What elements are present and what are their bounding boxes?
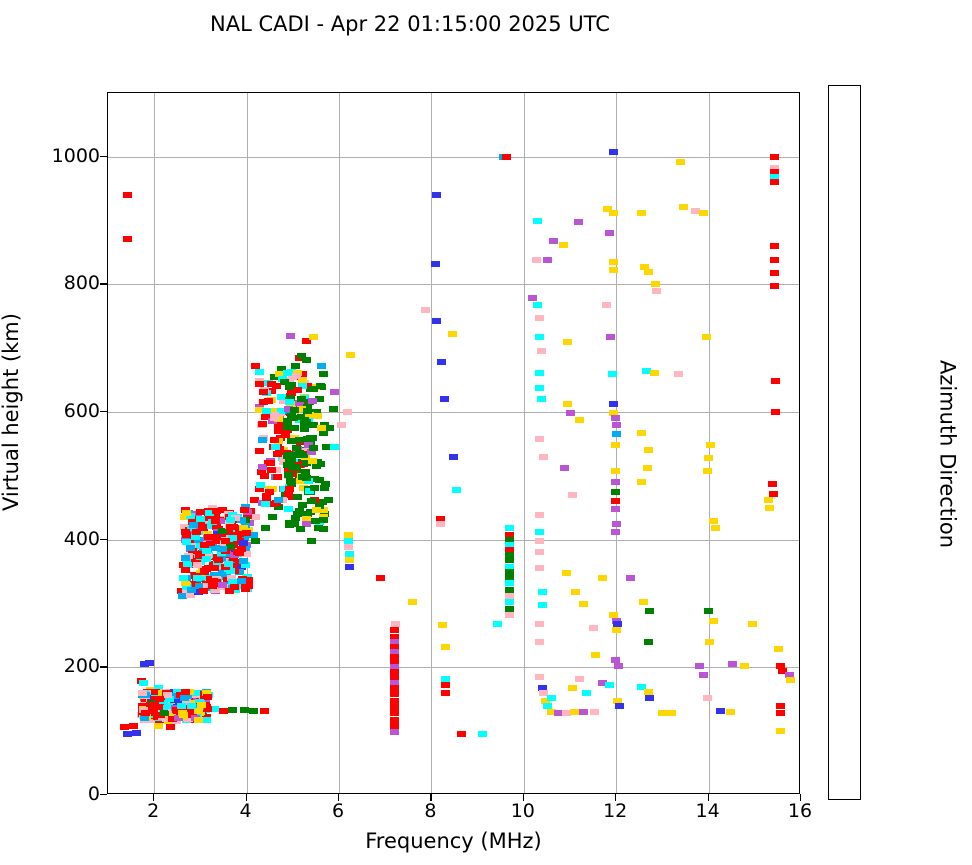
- data-point: [505, 557, 514, 563]
- data-point: [559, 242, 568, 248]
- data-point: [285, 383, 294, 389]
- data-point: [267, 467, 276, 473]
- data-point: [226, 524, 235, 530]
- data-point: [163, 692, 172, 698]
- data-point: [270, 437, 279, 443]
- data-point: [309, 445, 318, 451]
- data-point: [228, 707, 237, 713]
- data-point: [598, 575, 607, 581]
- data-point: [239, 558, 248, 564]
- data-point: [196, 509, 205, 515]
- data-point: [311, 518, 320, 524]
- data-point: [138, 690, 147, 696]
- data-point: [770, 243, 779, 249]
- data-point: [533, 302, 542, 308]
- data-point: [771, 409, 780, 415]
- data-point: [776, 710, 785, 716]
- data-point: [535, 315, 544, 321]
- y-tick-label: 200: [38, 655, 100, 677]
- data-point: [182, 539, 191, 545]
- data-point: [563, 401, 572, 407]
- data-point: [268, 514, 277, 520]
- data-point: [609, 259, 618, 265]
- data-point: [310, 485, 319, 491]
- data-point: [535, 512, 544, 518]
- x-tick-label: 10: [493, 800, 553, 822]
- data-point: [150, 702, 159, 708]
- gridline-horizontal: [108, 412, 799, 413]
- data-point: [543, 703, 552, 709]
- data-point: [448, 331, 457, 337]
- data-point: [166, 724, 175, 730]
- data-point: [308, 458, 317, 464]
- data-point: [770, 179, 779, 185]
- data-point: [652, 288, 661, 294]
- data-point: [535, 674, 544, 680]
- gridline-vertical: [339, 93, 340, 793]
- data-point: [284, 506, 293, 512]
- data-point: [637, 210, 646, 216]
- data-point: [240, 507, 249, 513]
- data-point: [478, 731, 487, 737]
- data-point: [528, 295, 537, 301]
- y-tick-label: 600: [38, 400, 100, 422]
- data-point: [535, 334, 544, 340]
- data-point: [312, 507, 321, 513]
- data-point: [132, 730, 141, 736]
- data-point: [390, 691, 399, 697]
- data-point: [602, 302, 611, 308]
- data-point: [182, 510, 191, 516]
- x-tickmark: [430, 794, 431, 801]
- data-point: [306, 422, 315, 428]
- data-point: [609, 149, 618, 155]
- data-point: [535, 565, 544, 571]
- data-point: [764, 497, 773, 503]
- data-point: [637, 479, 646, 485]
- data-point: [611, 479, 620, 485]
- y-tick-label: 1000: [38, 145, 100, 167]
- data-point: [199, 588, 208, 594]
- data-point: [575, 676, 584, 682]
- data-point: [257, 469, 266, 475]
- data-point: [221, 538, 230, 544]
- data-point: [273, 451, 282, 457]
- data-point: [202, 556, 211, 562]
- data-point: [535, 549, 544, 555]
- data-point: [566, 410, 575, 416]
- data-point: [344, 544, 353, 550]
- data-point: [776, 703, 785, 709]
- data-point: [218, 546, 227, 552]
- data-point: [705, 639, 714, 645]
- y-tickmark: [100, 156, 107, 157]
- data-point: [603, 206, 612, 212]
- x-tick-label: 14: [678, 800, 738, 822]
- gridline-horizontal: [108, 157, 799, 158]
- data-point: [345, 557, 354, 563]
- data-point: [211, 518, 220, 524]
- data-point: [438, 622, 447, 628]
- data-point: [645, 695, 654, 701]
- y-tickmark: [100, 411, 107, 412]
- data-point: [308, 435, 317, 441]
- data-point: [535, 538, 544, 544]
- data-point: [321, 481, 330, 487]
- data-point: [432, 192, 441, 198]
- data-point: [266, 460, 275, 466]
- data-point: [770, 257, 779, 263]
- colorbar-title: Azimuth Direction: [936, 97, 960, 812]
- data-point: [181, 555, 190, 561]
- data-point: [160, 710, 169, 716]
- data-point: [436, 521, 445, 527]
- data-point: [709, 618, 718, 624]
- gridline-vertical: [247, 93, 248, 793]
- x-tick-label: 4: [216, 800, 276, 822]
- data-point: [505, 606, 514, 612]
- data-point: [202, 548, 211, 554]
- y-axis-title: Virtual height (km): [0, 61, 23, 763]
- data-point: [612, 422, 621, 428]
- data-point: [303, 408, 312, 414]
- data-point: [145, 660, 154, 666]
- data-point: [237, 578, 246, 584]
- data-point: [293, 387, 302, 393]
- data-point: [317, 425, 326, 431]
- data-point: [505, 580, 514, 586]
- data-point: [706, 442, 715, 448]
- y-tickmark: [100, 539, 107, 540]
- data-point: [261, 525, 270, 531]
- data-point: [535, 385, 544, 391]
- data-point: [726, 709, 735, 715]
- data-point: [251, 538, 260, 544]
- data-point: [651, 281, 660, 287]
- data-point: [538, 589, 547, 595]
- data-point: [770, 154, 779, 160]
- data-point: [180, 695, 189, 701]
- data-point: [568, 492, 577, 498]
- data-point: [120, 724, 129, 730]
- data-point: [704, 608, 713, 614]
- data-point: [614, 663, 623, 669]
- data-point: [302, 475, 311, 481]
- data-point: [611, 468, 620, 474]
- x-axis-title: Frequency (MHz): [107, 829, 800, 853]
- y-tickmark: [100, 794, 107, 795]
- x-tick-label: 8: [400, 800, 460, 822]
- data-point: [287, 438, 296, 444]
- data-point: [441, 682, 450, 688]
- data-point: [212, 508, 221, 514]
- data-point: [703, 695, 712, 701]
- data-point: [337, 422, 346, 428]
- data-point: [699, 672, 708, 678]
- data-point: [345, 551, 354, 557]
- data-point: [609, 612, 618, 618]
- data-point: [605, 230, 614, 236]
- y-tick-label: 400: [38, 528, 100, 550]
- data-point: [505, 599, 514, 605]
- data-point: [194, 708, 203, 714]
- plot-area[interactable]: [107, 92, 800, 794]
- data-point: [343, 409, 352, 415]
- data-point: [192, 529, 201, 535]
- data-point: [292, 373, 301, 379]
- x-tickmark: [153, 794, 154, 801]
- data-point: [643, 465, 652, 471]
- data-point: [255, 369, 264, 375]
- data-point: [605, 682, 614, 688]
- data-point: [562, 570, 571, 576]
- data-point: [771, 378, 780, 384]
- data-point: [193, 575, 202, 581]
- data-point: [187, 587, 196, 593]
- x-tickmark: [246, 794, 247, 801]
- data-point: [261, 501, 270, 507]
- data-point: [441, 676, 450, 682]
- data-point: [344, 532, 353, 538]
- data-point: [543, 257, 552, 263]
- data-point: [129, 723, 138, 729]
- data-point: [200, 569, 209, 575]
- data-point: [571, 589, 580, 595]
- data-point: [329, 406, 338, 412]
- data-point: [284, 452, 293, 458]
- data-point: [549, 238, 558, 244]
- data-point: [644, 447, 653, 453]
- data-point: [240, 707, 249, 713]
- data-point: [441, 644, 450, 650]
- data-point: [644, 689, 653, 695]
- colorbar[interactable]: [828, 85, 861, 800]
- data-point: [292, 445, 301, 451]
- data-point: [196, 516, 205, 522]
- y-axis-tick-labels: 02004006008001000: [25, 92, 100, 794]
- data-point: [716, 708, 725, 714]
- data-point: [493, 621, 502, 627]
- data-point: [547, 695, 556, 701]
- data-point: [123, 731, 132, 737]
- data-point: [667, 710, 676, 716]
- data-point: [611, 529, 620, 535]
- data-point: [140, 715, 149, 721]
- data-point: [293, 494, 302, 500]
- data-point: [292, 464, 301, 470]
- data-point: [309, 334, 318, 340]
- data-point: [563, 339, 572, 345]
- data-point: [210, 565, 219, 571]
- data-point: [177, 703, 186, 709]
- data-point: [390, 685, 399, 691]
- data-point: [441, 690, 450, 696]
- data-point: [301, 469, 310, 475]
- data-point: [259, 389, 268, 395]
- data-point: [179, 712, 188, 718]
- data-point: [582, 690, 591, 696]
- data-point: [219, 708, 228, 714]
- data-point: [255, 381, 264, 387]
- data-point: [535, 621, 544, 627]
- data-point: [579, 709, 588, 715]
- data-point: [452, 487, 461, 493]
- x-tick-label: 12: [585, 800, 645, 822]
- data-point: [255, 448, 264, 454]
- x-tickmark: [523, 794, 524, 801]
- y-tick-label: 0: [38, 783, 100, 805]
- data-point: [611, 506, 620, 512]
- data-point: [533, 218, 542, 224]
- data-point: [191, 534, 200, 540]
- data-point: [283, 418, 292, 424]
- data-point: [186, 545, 195, 551]
- x-tickmark: [338, 794, 339, 801]
- data-point: [390, 729, 399, 735]
- data-point: [575, 417, 584, 423]
- data-point: [591, 652, 600, 658]
- data-point: [538, 602, 547, 608]
- data-point: [776, 728, 785, 734]
- data-point: [606, 334, 615, 340]
- data-point: [346, 352, 355, 358]
- data-point: [505, 593, 514, 599]
- data-point: [537, 396, 546, 402]
- data-point: [774, 646, 783, 652]
- data-point: [568, 685, 577, 691]
- data-point: [432, 318, 441, 324]
- data-point: [123, 236, 132, 242]
- data-point: [273, 474, 282, 480]
- data-point: [626, 575, 635, 581]
- data-point: [535, 436, 544, 442]
- data-point: [644, 269, 653, 275]
- data-point: [242, 530, 251, 536]
- x-tickmark: [708, 794, 709, 801]
- data-point: [613, 621, 622, 627]
- data-point: [579, 601, 588, 607]
- data-point: [258, 421, 267, 427]
- data-point: [307, 538, 316, 544]
- data-point: [204, 534, 213, 540]
- data-point: [695, 663, 704, 669]
- data-point: [267, 381, 276, 387]
- data-point: [181, 580, 190, 586]
- data-point: [786, 677, 795, 683]
- data-point: [330, 444, 339, 450]
- data-point: [615, 703, 624, 709]
- data-point: [300, 417, 309, 423]
- data-point: [535, 639, 544, 645]
- data-point: [179, 575, 188, 581]
- data-point: [709, 518, 718, 524]
- data-point: [141, 710, 150, 716]
- data-point: [609, 401, 618, 407]
- data-point: [505, 612, 514, 618]
- data-point: [139, 680, 148, 686]
- data-point: [703, 468, 712, 474]
- data-point: [312, 463, 321, 469]
- data-point: [291, 515, 300, 521]
- data-point: [256, 482, 265, 488]
- data-point: [344, 538, 353, 544]
- data-point: [233, 549, 242, 555]
- data-point: [239, 540, 248, 546]
- data-point: [319, 526, 328, 532]
- data-point: [535, 529, 544, 535]
- data-point: [193, 562, 202, 568]
- data-point: [270, 415, 279, 421]
- data-point: [437, 359, 446, 365]
- data-point: [637, 430, 646, 436]
- data-point: [390, 698, 399, 704]
- data-point: [285, 399, 294, 405]
- ionogram-figure: NAL CADI - Apr 22 01:15:00 2025 UTC 0200…: [0, 0, 972, 865]
- data-point: [644, 639, 653, 645]
- data-point: [711, 525, 720, 531]
- data-point: [770, 270, 779, 276]
- data-point: [611, 442, 620, 448]
- data-point: [298, 502, 307, 508]
- data-point: [155, 696, 164, 702]
- data-point: [345, 564, 354, 570]
- data-point: [612, 431, 621, 437]
- data-point: [391, 621, 400, 627]
- data-point: [241, 586, 250, 592]
- data-point: [302, 357, 311, 363]
- data-point: [408, 599, 417, 605]
- data-point: [309, 386, 318, 392]
- data-point: [765, 505, 774, 511]
- data-point: [702, 334, 711, 340]
- data-point: [260, 708, 269, 714]
- data-point: [421, 307, 430, 313]
- data-point: [431, 261, 440, 267]
- data-point: [209, 579, 218, 585]
- data-point: [218, 582, 227, 588]
- data-point: [679, 204, 688, 210]
- data-point: [611, 489, 620, 495]
- data-point: [676, 159, 685, 165]
- data-point: [286, 478, 295, 484]
- data-point: [611, 657, 620, 663]
- data-point: [182, 532, 191, 538]
- data-point: [274, 497, 283, 503]
- data-point: [295, 508, 304, 514]
- data-point: [611, 415, 620, 421]
- data-point: [748, 621, 757, 627]
- data-point: [290, 407, 299, 413]
- y-tick-label: 800: [38, 272, 100, 294]
- data-point: [532, 257, 541, 263]
- data-point: [123, 192, 132, 198]
- data-point: [537, 348, 546, 354]
- data-point: [197, 702, 206, 708]
- data-point: [502, 154, 511, 160]
- data-point: [539, 454, 548, 460]
- data-point: [258, 437, 267, 443]
- data-point: [319, 371, 328, 377]
- data-point: [181, 567, 190, 573]
- y-tickmark: [100, 283, 107, 284]
- data-point: [224, 561, 233, 567]
- x-tick-label: 2: [123, 800, 183, 822]
- data-point: [390, 710, 399, 716]
- data-point: [284, 472, 293, 478]
- data-point: [770, 283, 779, 289]
- data-point: [505, 525, 514, 531]
- data-point: [317, 363, 326, 369]
